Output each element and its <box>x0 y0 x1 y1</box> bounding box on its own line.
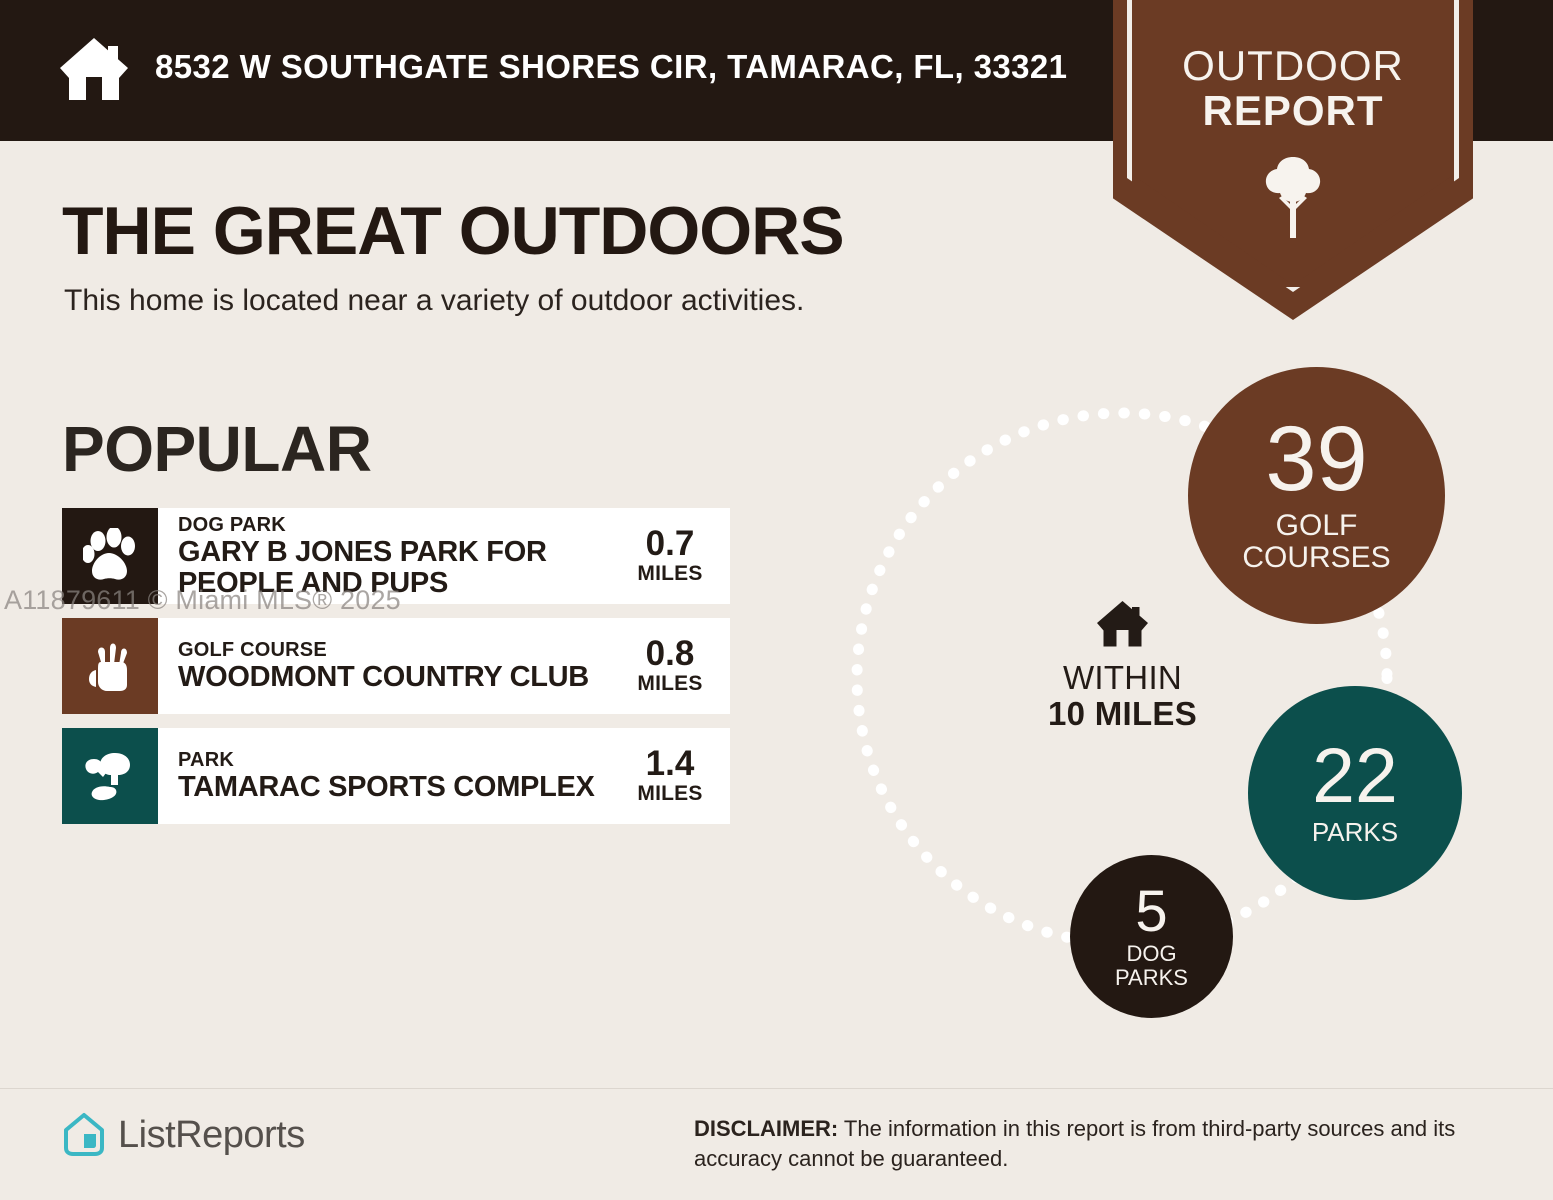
property-address: 8532 W SOUTHGATE SHORES CIR, TAMARAC, FL… <box>155 48 1067 86</box>
poi-distance-unit: MILES <box>637 781 702 806</box>
poi-distance-value: 1.4 <box>646 746 695 781</box>
stat-value: 39 <box>1265 416 1367 503</box>
within-radius-block: WITHIN 10 MILES <box>1020 600 1225 731</box>
poi-category: DOG PARK <box>178 514 624 537</box>
disclaimer-label: DISCLAIMER: <box>694 1116 838 1141</box>
list-item[interactable]: PARK TAMARAC SPORTS COMPLEX 1.4 MILES <box>62 728 730 824</box>
poi-text-block: GOLF COURSE WOODMONT COUNTRY CLUB <box>158 618 624 714</box>
stat-value: 22 <box>1312 740 1398 813</box>
badge-title: OUTDOOR REPORT <box>1113 44 1473 134</box>
poi-distance: 1.4 MILES <box>624 728 730 824</box>
stat-circle-parks: 22 PARKS <box>1248 686 1462 900</box>
stat-label-line1: PARKS <box>1312 818 1398 846</box>
within-label-line2: 10 MILES <box>1020 696 1225 732</box>
park-trees-icon <box>82 749 138 803</box>
poi-distance-value: 0.7 <box>646 526 695 561</box>
listreports-logo[interactable]: ListReports <box>62 1112 305 1158</box>
poi-name: TAMARAC SPORTS COMPLEX <box>178 772 624 802</box>
golf-bag-icon <box>85 638 135 694</box>
poi-icon-tile <box>62 728 158 824</box>
home-icon <box>1095 600 1150 648</box>
poi-distance-unit: MILES <box>637 671 702 696</box>
within-label-line1: WITHIN <box>1020 660 1225 696</box>
poi-category: GOLF COURSE <box>178 639 624 662</box>
popular-places-list: DOG PARK GARY B JONES PARK FOR PEOPLE AN… <box>62 508 730 838</box>
mls-watermark: A11879611 © Miami MLS® 2025 <box>4 585 401 616</box>
stat-label-line2: COURSES <box>1242 542 1390 574</box>
home-icon <box>58 36 130 102</box>
poi-distance-unit: MILES <box>637 561 702 586</box>
poi-name: WOODMONT COUNTRY CLUB <box>178 662 624 692</box>
outdoor-report-page: 8532 W SOUTHGATE SHORES CIR, TAMARAC, FL… <box>0 0 1553 1200</box>
stat-label-line1: GOLF <box>1276 510 1358 542</box>
stat-circle-dog-parks: 5 DOG PARKS <box>1070 855 1233 1018</box>
stat-label-line1: DOG <box>1126 942 1176 966</box>
badge-title-line2: REPORT <box>1113 89 1473 134</box>
listreports-logo-text: ListReports <box>118 1114 305 1157</box>
page-title: THE GREAT OUTDOORS <box>62 192 844 270</box>
footer-divider <box>0 1088 1553 1089</box>
stat-value: 5 <box>1135 884 1167 939</box>
stat-label-line2: PARKS <box>1115 966 1188 990</box>
page-subtitle: This home is located near a variety of o… <box>64 284 804 318</box>
paw-icon <box>83 528 137 584</box>
list-item[interactable]: GOLF COURSE WOODMONT COUNTRY CLUB 0.8 MI… <box>62 618 730 714</box>
badge-title-line1: OUTDOOR <box>1113 44 1473 89</box>
popular-heading: POPULAR <box>62 412 371 486</box>
stat-circle-golf-courses: 39 GOLF COURSES <box>1188 367 1445 624</box>
poi-category: PARK <box>178 749 624 772</box>
listreports-house-icon <box>62 1112 106 1158</box>
poi-icon-tile <box>62 618 158 714</box>
poi-distance-value: 0.8 <box>646 636 695 671</box>
poi-distance: 0.7 MILES <box>624 508 730 604</box>
poi-text-block: PARK TAMARAC SPORTS COMPLEX <box>158 728 624 824</box>
tree-icon <box>1262 155 1324 240</box>
poi-distance: 0.8 MILES <box>624 618 730 714</box>
disclaimer: DISCLAIMER: The information in this repo… <box>694 1114 1494 1175</box>
